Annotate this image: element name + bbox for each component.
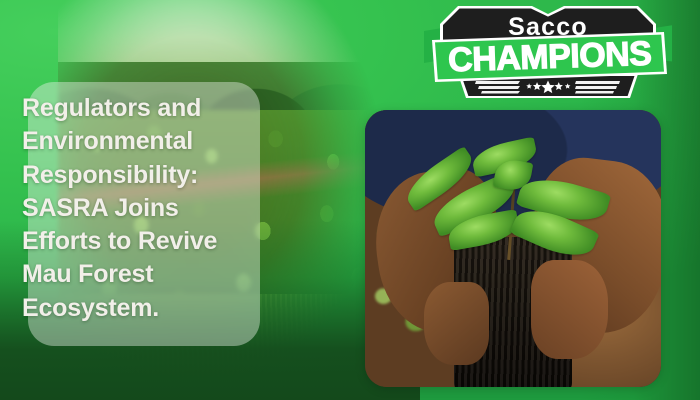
logo-speed-lines-right <box>575 81 620 94</box>
seedling-photo <box>365 110 661 387</box>
logo-bottom-word: CHAMPIONS <box>448 35 652 80</box>
sacco-champions-logo[interactable]: Sacco <box>424 0 672 104</box>
banner-graphic: Regulators and Environmental Responsibil… <box>0 0 700 400</box>
photo-right-hand <box>531 260 608 360</box>
photo-left-hand <box>424 282 489 365</box>
page-title: Regulators and Environmental Responsibil… <box>22 92 258 325</box>
logo-speed-lines-left <box>475 81 520 94</box>
